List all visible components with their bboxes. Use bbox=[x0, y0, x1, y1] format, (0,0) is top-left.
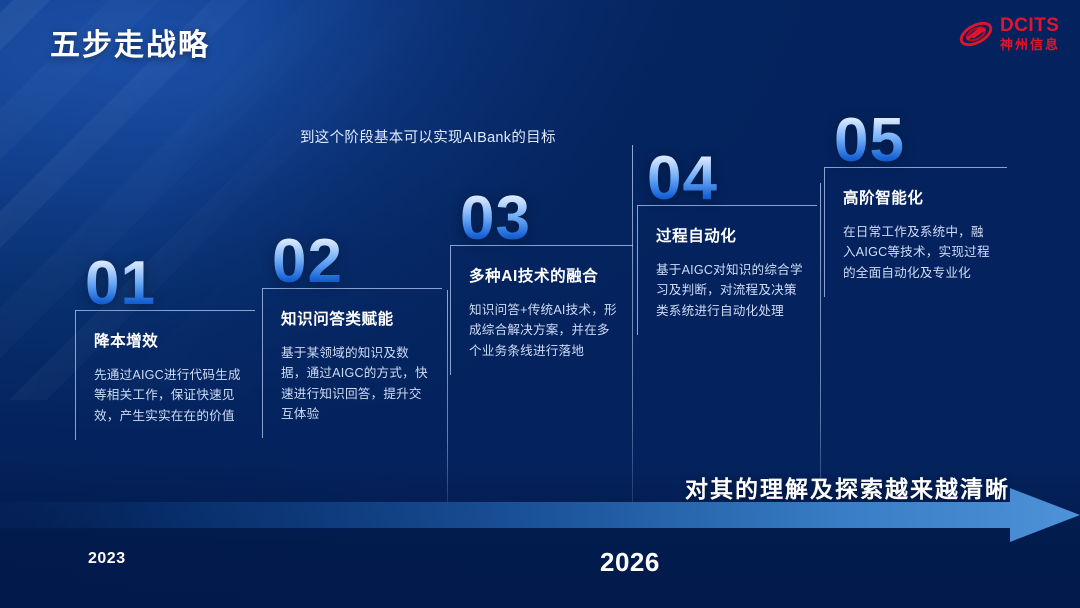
timeline-year-end: 2026 bbox=[600, 547, 660, 578]
step-card-02[interactable]: 02 知识问答类赋能 基于某领域的知识及数据，通过AIGC的方式，快速进行知识回… bbox=[262, 233, 442, 438]
step-number-01: 01 bbox=[85, 255, 255, 314]
divider-line-05 bbox=[820, 183, 821, 505]
step-description-01: 先通过AIGC进行代码生成等相关工作，保证快速见效，产生实实在在的价值 bbox=[94, 365, 243, 426]
step-card-05[interactable]: 05 高阶智能化 在日常工作及系统中，融入AIGC等技术，实现过程的全面自动化及… bbox=[824, 112, 1007, 297]
timeline-arrow bbox=[0, 488, 1080, 550]
step-number-05: 05 bbox=[834, 112, 1007, 171]
logo-text-chinese: 神州信息 bbox=[1000, 38, 1060, 51]
step-description-05: 在日常工作及系统中，融入AIGC等技术，实现过程的全面自动化及专业化 bbox=[843, 222, 995, 283]
step-card-01[interactable]: 01 降本增效 先通过AIGC进行代码生成等相关工作，保证快速见效，产生实实在在… bbox=[75, 255, 255, 440]
page-title: 五步走战略 bbox=[50, 20, 210, 64]
brand-logo: DCITS 神州信息 bbox=[958, 16, 1060, 51]
step-description-03: 知识问答+传统AI技术，形成综合解决方案，并在多个业务条线进行落地 bbox=[469, 300, 621, 361]
timeline-year-start: 2023 bbox=[88, 550, 126, 568]
step-description-02: 基于某领域的知识及数据，通过AIGC的方式，快速进行知识回答，提升交互体验 bbox=[281, 343, 430, 425]
slide-canvas: 五步走战略 DCITS 神州信息 到这个阶段基本可以实现AIBank的目标 01… bbox=[0, 0, 1080, 608]
logo-wordmark: DCITS 神州信息 bbox=[1000, 16, 1060, 51]
step-title-05: 高阶智能化 bbox=[843, 186, 995, 208]
dcits-swirl-logo-icon bbox=[958, 17, 994, 51]
step-number-04: 04 bbox=[647, 150, 817, 209]
step-description-04: 基于AIGC对知识的综合学习及判断，对流程及决策类系统进行自动化处理 bbox=[656, 260, 805, 321]
step-title-03: 多种AI技术的融合 bbox=[469, 264, 621, 286]
step-card-body-02: 知识问答类赋能 基于某领域的知识及数据，通过AIGC的方式，快速进行知识回答，提… bbox=[262, 288, 442, 439]
step-card-body-01: 降本增效 先通过AIGC进行代码生成等相关工作，保证快速见效，产生实实在在的价值 bbox=[75, 310, 255, 440]
logo-text-english: DCITS bbox=[1000, 16, 1060, 35]
step-number-03: 03 bbox=[460, 190, 633, 249]
timeline-arrow-shape bbox=[0, 488, 1080, 550]
step-card-03[interactable]: 03 多种AI技术的融合 知识问答+传统AI技术，形成综合解决方案，并在多个业务… bbox=[450, 190, 633, 375]
divider-line-03 bbox=[447, 290, 448, 505]
step-card-body-04: 过程自动化 基于AIGC对知识的综合学习及判断，对流程及决策类系统进行自动化处理 bbox=[637, 205, 817, 335]
step-card-04[interactable]: 04 过程自动化 基于AIGC对知识的综合学习及判断，对流程及决策类系统进行自动… bbox=[637, 150, 817, 335]
step-title-02: 知识问答类赋能 bbox=[281, 307, 430, 329]
step-card-body-03: 多种AI技术的融合 知识问答+传统AI技术，形成综合解决方案，并在多个业务条线进… bbox=[450, 245, 633, 375]
step-title-04: 过程自动化 bbox=[656, 224, 805, 246]
step-number-02: 02 bbox=[272, 233, 442, 292]
stage-annotation: 到这个阶段基本可以实现AIBank的目标 bbox=[300, 126, 556, 147]
step-title-01: 降本增效 bbox=[94, 329, 243, 351]
step-card-body-05: 高阶智能化 在日常工作及系统中，融入AIGC等技术，实现过程的全面自动化及专业化 bbox=[824, 167, 1007, 297]
